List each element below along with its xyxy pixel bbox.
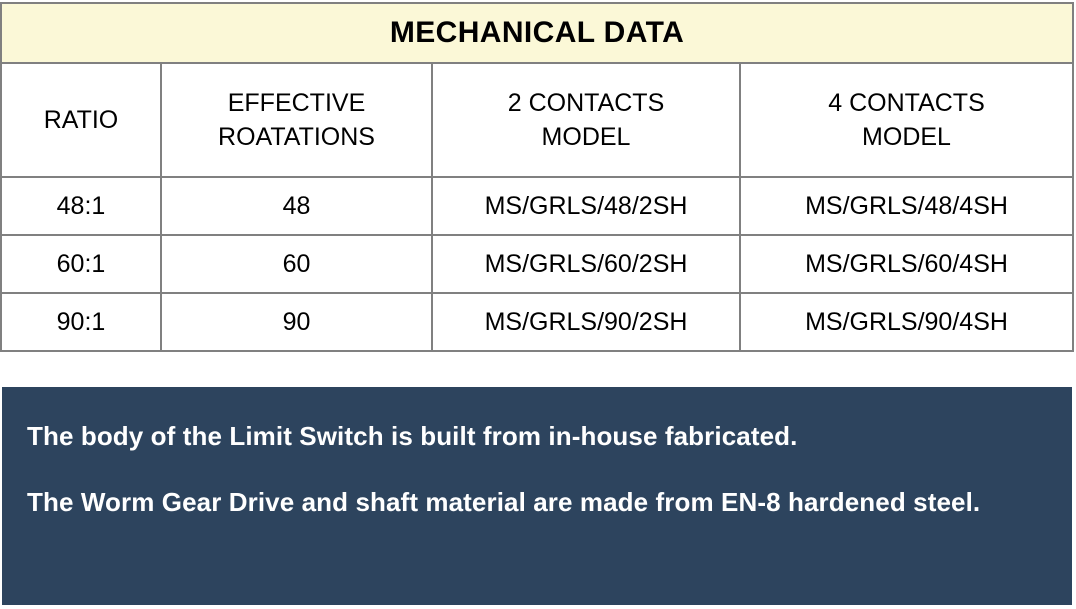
- column-header-ratio: RATIO: [1, 63, 161, 177]
- column-header-2-contacts-model-line1: 2 CONTACTS: [433, 86, 739, 121]
- table-row: 48:1 48 MS/GRLS/48/2SH MS/GRLS/48/4SH: [1, 177, 1073, 235]
- note-paragraph-gear-material: The Worm Gear Drive and shaft material a…: [27, 485, 1032, 519]
- cell-ratio: 90:1: [1, 293, 161, 351]
- column-header-2-contacts-model-line2: MODEL: [433, 120, 739, 155]
- cell-model-2-contacts: MS/GRLS/48/2SH: [432, 177, 740, 235]
- cell-model-2-contacts: MS/GRLS/60/2SH: [432, 235, 740, 293]
- cell-rotations: 48: [161, 177, 432, 235]
- column-header-ratio-line1: RATIO: [2, 103, 160, 138]
- column-header-2-contacts-model: 2 CONTACTS MODEL: [432, 63, 740, 177]
- table-row: 60:1 60 MS/GRLS/60/2SH MS/GRLS/60/4SH: [1, 235, 1073, 293]
- table-title: MECHANICAL DATA: [1, 3, 1073, 63]
- column-header-effective-rotations-line1: EFFECTIVE: [162, 86, 431, 121]
- cell-model-4-contacts: MS/GRLS/90/4SH: [740, 293, 1073, 351]
- cell-rotations: 90: [161, 293, 432, 351]
- cell-ratio: 60:1: [1, 235, 161, 293]
- column-header-effective-rotations-line2: ROATATIONS: [162, 120, 431, 155]
- table-title-row: MECHANICAL DATA: [1, 3, 1073, 63]
- note-paragraph-body-material: The body of the Limit Switch is built fr…: [27, 419, 1032, 453]
- cell-model-4-contacts: MS/GRLS/60/4SH: [740, 235, 1073, 293]
- cell-model-4-contacts: MS/GRLS/48/4SH: [740, 177, 1073, 235]
- cell-model-2-contacts: MS/GRLS/90/2SH: [432, 293, 740, 351]
- table-header-row: RATIO EFFECTIVE ROATATIONS 2 CONTACTS MO…: [1, 63, 1073, 177]
- column-header-4-contacts-model-line2: MODEL: [741, 120, 1072, 155]
- cell-ratio: 48:1: [1, 177, 161, 235]
- construction-note-panel: The body of the Limit Switch is built fr…: [2, 387, 1072, 605]
- table-row: 90:1 90 MS/GRLS/90/2SH MS/GRLS/90/4SH: [1, 293, 1073, 351]
- mechanical-data-table: MECHANICAL DATA RATIO EFFECTIVE ROATATIO…: [0, 2, 1074, 352]
- column-header-4-contacts-model: 4 CONTACTS MODEL: [740, 63, 1073, 177]
- mechanical-data-sheet: MECHANICAL DATA RATIO EFFECTIVE ROATATIO…: [0, 0, 1076, 609]
- column-header-effective-rotations: EFFECTIVE ROATATIONS: [161, 63, 432, 177]
- cell-rotations: 60: [161, 235, 432, 293]
- column-header-4-contacts-model-line1: 4 CONTACTS: [741, 86, 1072, 121]
